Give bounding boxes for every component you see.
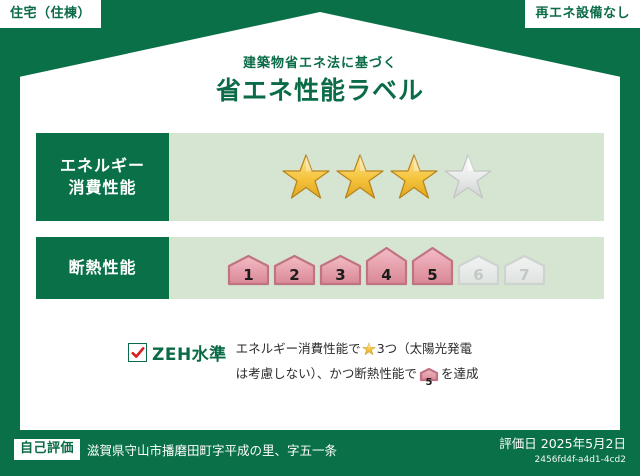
insulation-grade-number: 5 — [411, 268, 454, 283]
zeh-description-line1: エネルギー消費性能で3つ（太陽光発電 — [236, 338, 479, 363]
insulation-performance-label-cell: 断熱性能 — [36, 237, 169, 299]
building-type-chip: 住宅（住棟） — [0, 0, 101, 28]
zeh-line1-prefix: エネルギー消費性能で — [236, 341, 361, 356]
energy-label-line1: エネルギー — [60, 155, 145, 177]
insulation-grade-4-achieved: 4 — [365, 246, 408, 286]
energy-performance-value-cell — [169, 133, 604, 221]
insulation-grade-number: 1 — [227, 268, 270, 283]
energy-performance-row: エネルギー 消費性能 — [36, 133, 604, 221]
insulation-grade-number: 6 — [457, 268, 500, 283]
zeh-line1-suffix: 3つ（太陽光発電 — [377, 341, 472, 356]
star-1-filled — [281, 152, 331, 202]
star-3-filled — [389, 152, 439, 202]
zeh-tag: ZEH水準 — [128, 336, 227, 365]
insulation-performance-row: 断熱性能 1234567 — [36, 237, 604, 299]
energy-performance-label-cell: エネルギー 消費性能 — [36, 133, 169, 221]
star-rating — [281, 152, 493, 202]
zeh-label: ZEH水準 — [152, 340, 227, 365]
zeh-note: ZEH水準 エネルギー消費性能で3つ（太陽光発電 は考慮しない）、かつ断熱性能で… — [128, 336, 478, 389]
renewable-energy-chip: 再エネ設備なし — [525, 0, 640, 28]
inline-grade-number: 5 — [419, 378, 439, 388]
insulation-grade-2-achieved: 2 — [273, 254, 316, 286]
insulation-grade-1-achieved: 1 — [227, 254, 270, 286]
document-id: 2456fd4f-a4d1-4cd2 — [499, 454, 626, 467]
footer: 自己評価 滋賀県守山市播磨田町字平成の里、字五一条 評価日 2025年5月2日 … — [0, 430, 640, 476]
inline-star-icon — [362, 344, 376, 359]
inline-grade-badge: 5 — [419, 367, 439, 389]
star-4-empty — [443, 152, 493, 202]
zeh-line2-suffix: を達成 — [441, 366, 479, 381]
checkmark-icon — [128, 343, 147, 362]
page-title: 省エネ性能ラベル — [0, 77, 640, 106]
insulation-grade-scale: 1234567 — [227, 246, 546, 290]
title-block: 建築物省エネ法に基づく 省エネ性能ラベル — [0, 56, 640, 105]
zeh-description-line2: は考慮しない）、かつ断熱性能で5を達成 — [236, 363, 479, 389]
property-address: 滋賀県守山市播磨田町字平成の里、字五一条 — [87, 440, 337, 459]
star-2-filled — [335, 152, 385, 202]
insulation-grade-5-achieved: 5 — [411, 246, 454, 286]
energy-label-line2: 消費性能 — [68, 177, 136, 199]
energy-performance-label: 住宅（住棟） 再エネ設備なし 建築物省エネ法に基づく 省エネ性能ラベル エネルギ… — [0, 0, 640, 476]
insulation-label: 断熱性能 — [68, 257, 136, 279]
insulation-grade-3-achieved: 3 — [319, 254, 362, 286]
insulation-grade-number: 7 — [503, 268, 546, 283]
footer-right: 評価日 2025年5月2日 2456fd4f-a4d1-4cd2 — [499, 436, 626, 467]
zeh-description: エネルギー消費性能で3つ（太陽光発電 は考慮しない）、かつ断熱性能で5を達成 — [236, 336, 479, 389]
insulation-grade-6-inactive: 6 — [457, 254, 500, 286]
insulation-grade-7-inactive: 7 — [503, 254, 546, 286]
insulation-grade-number: 4 — [365, 268, 408, 283]
insulation-grade-number: 3 — [319, 268, 362, 283]
title-subtitle: 建築物省エネ法に基づく — [0, 56, 640, 72]
insulation-grade-number: 2 — [273, 268, 316, 283]
insulation-performance-value-cell: 1234567 — [169, 237, 604, 299]
footer-left: 自己評価 滋賀県守山市播磨田町字平成の里、字五一条 — [14, 439, 337, 460]
self-evaluation-chip: 自己評価 — [14, 439, 80, 460]
evaluation-date: 評価日 2025年5月2日 — [499, 436, 626, 452]
zeh-line2-prefix: は考慮しない）、かつ断熱性能で — [236, 366, 417, 381]
